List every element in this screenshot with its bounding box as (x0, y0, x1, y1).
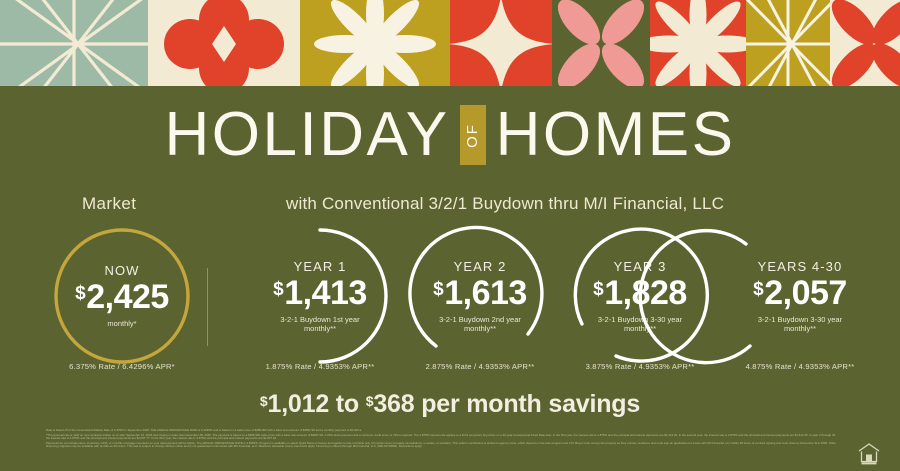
price-card-year-2: YEAR 2 $ 1,613 3-2-1 Buydown 2nd year mo… (396, 222, 564, 382)
holiday-of-homes-promo: HOLIDAY OF HOMES Market with Conventiona… (0, 0, 900, 471)
page-title: HOLIDAY OF HOMES (0, 104, 900, 166)
card-price: $ 2,425 (75, 279, 169, 315)
card-note: 3-2-1 Buydown 2nd year monthly** (426, 315, 534, 334)
card-price: $ 1,613 (433, 275, 527, 311)
savings-headline: $1,012 to $368 per month savings (0, 390, 900, 419)
card-price: $ 1,413 (273, 275, 367, 311)
title-homes: HOMES (496, 104, 736, 166)
savings-suffix: per month savings (414, 390, 640, 418)
disclaimer-line-1: Rate is based off of the Conventional Ma… (46, 429, 836, 432)
card-term-label: YEAR 3 (614, 259, 667, 274)
price-card-years-4-30: YEARS 4-30 $ 2,057 3-2-1 Buydown 3-30 ye… (716, 222, 884, 382)
card-price: $ 2,057 (753, 275, 847, 311)
program-subtitle: with Conventional 3/2/1 Buydown thru M/I… (286, 194, 724, 214)
title-of-text: OF (464, 123, 481, 148)
card-rate-apr: 2.875% Rate / 4.9353% APR** (396, 362, 564, 371)
market-label: Market (82, 194, 136, 214)
price-card-year-1: YEAR 1 $ 1,413 3-2-1 Buydown 1st year mo… (236, 222, 404, 382)
decorative-tile-banner (0, 0, 900, 88)
card-note: 3-2-1 Buydown 3-30 year monthly** (586, 315, 694, 334)
price-amount: 2,057 (764, 275, 847, 311)
title-holiday: HOLIDAY (165, 104, 450, 166)
tile-quatrefoil-cream-red (148, 0, 300, 88)
tile-petal-cross-olive-pink (552, 0, 650, 88)
savings-amount-low: 368 (373, 390, 414, 418)
currency-symbol: $ (753, 280, 763, 299)
card-note: 3-2-1 Buydown 1st year monthly** (266, 315, 374, 334)
currency-symbol: $ (593, 280, 603, 299)
currency-symbol: $ (433, 280, 443, 299)
card-rate-apr: 4.875% Rate / 4.9353% APR** (716, 362, 884, 371)
tile-eight-petal-red (650, 0, 746, 88)
card-rate-apr: 1.875% Rate / 4.9353% APR** (236, 362, 404, 371)
card-term-label: YEAR 2 (454, 259, 507, 274)
price-amount: 2,425 (86, 279, 169, 315)
legal-disclaimer: Rate is based off of the Conventional Ma… (46, 429, 836, 450)
price-amount: 1,613 (444, 275, 527, 311)
card-note: monthly* (107, 319, 136, 329)
title-of-badge: OF (460, 105, 486, 165)
tile-petal-cross-cream-red (830, 0, 900, 88)
disclaimer-line-2: **Promotional rate is valid on new contr… (46, 434, 836, 441)
tile-starburst-sage (0, 0, 148, 88)
price-card-now: NOW $ 2,425 monthly* 6.375% Rate / 6.429… (38, 222, 206, 382)
tile-four-point-star-red (450, 0, 552, 88)
disclaimer-line-3: Payments do not include taxes, insurance… (46, 442, 836, 449)
card-term-label: YEAR 1 (294, 259, 347, 274)
savings-connector: to (329, 390, 366, 418)
card-term-label: YEARS 4-30 (758, 259, 843, 274)
price-card-group: NOW $ 2,425 monthly* 6.375% Rate / 6.429… (0, 222, 900, 382)
savings-amount-high: 1,012 (267, 390, 329, 418)
price-amount: 1,413 (284, 275, 367, 311)
tile-eight-petal-gold (300, 0, 450, 88)
currency-symbol: $ (273, 280, 283, 299)
tile-starburst-gold (746, 0, 830, 88)
card-rate-apr: 6.375% Rate / 6.4296% APR* (38, 362, 206, 371)
card-term-label: NOW (104, 263, 139, 278)
banner-base-strip (0, 86, 900, 90)
currency-symbol: $ (75, 284, 85, 303)
price-amount: 1,828 (604, 275, 687, 311)
card-note: 3-2-1 Buydown 3-30 year monthly** (746, 315, 854, 334)
equal-housing-opportunity-icon (856, 441, 882, 465)
